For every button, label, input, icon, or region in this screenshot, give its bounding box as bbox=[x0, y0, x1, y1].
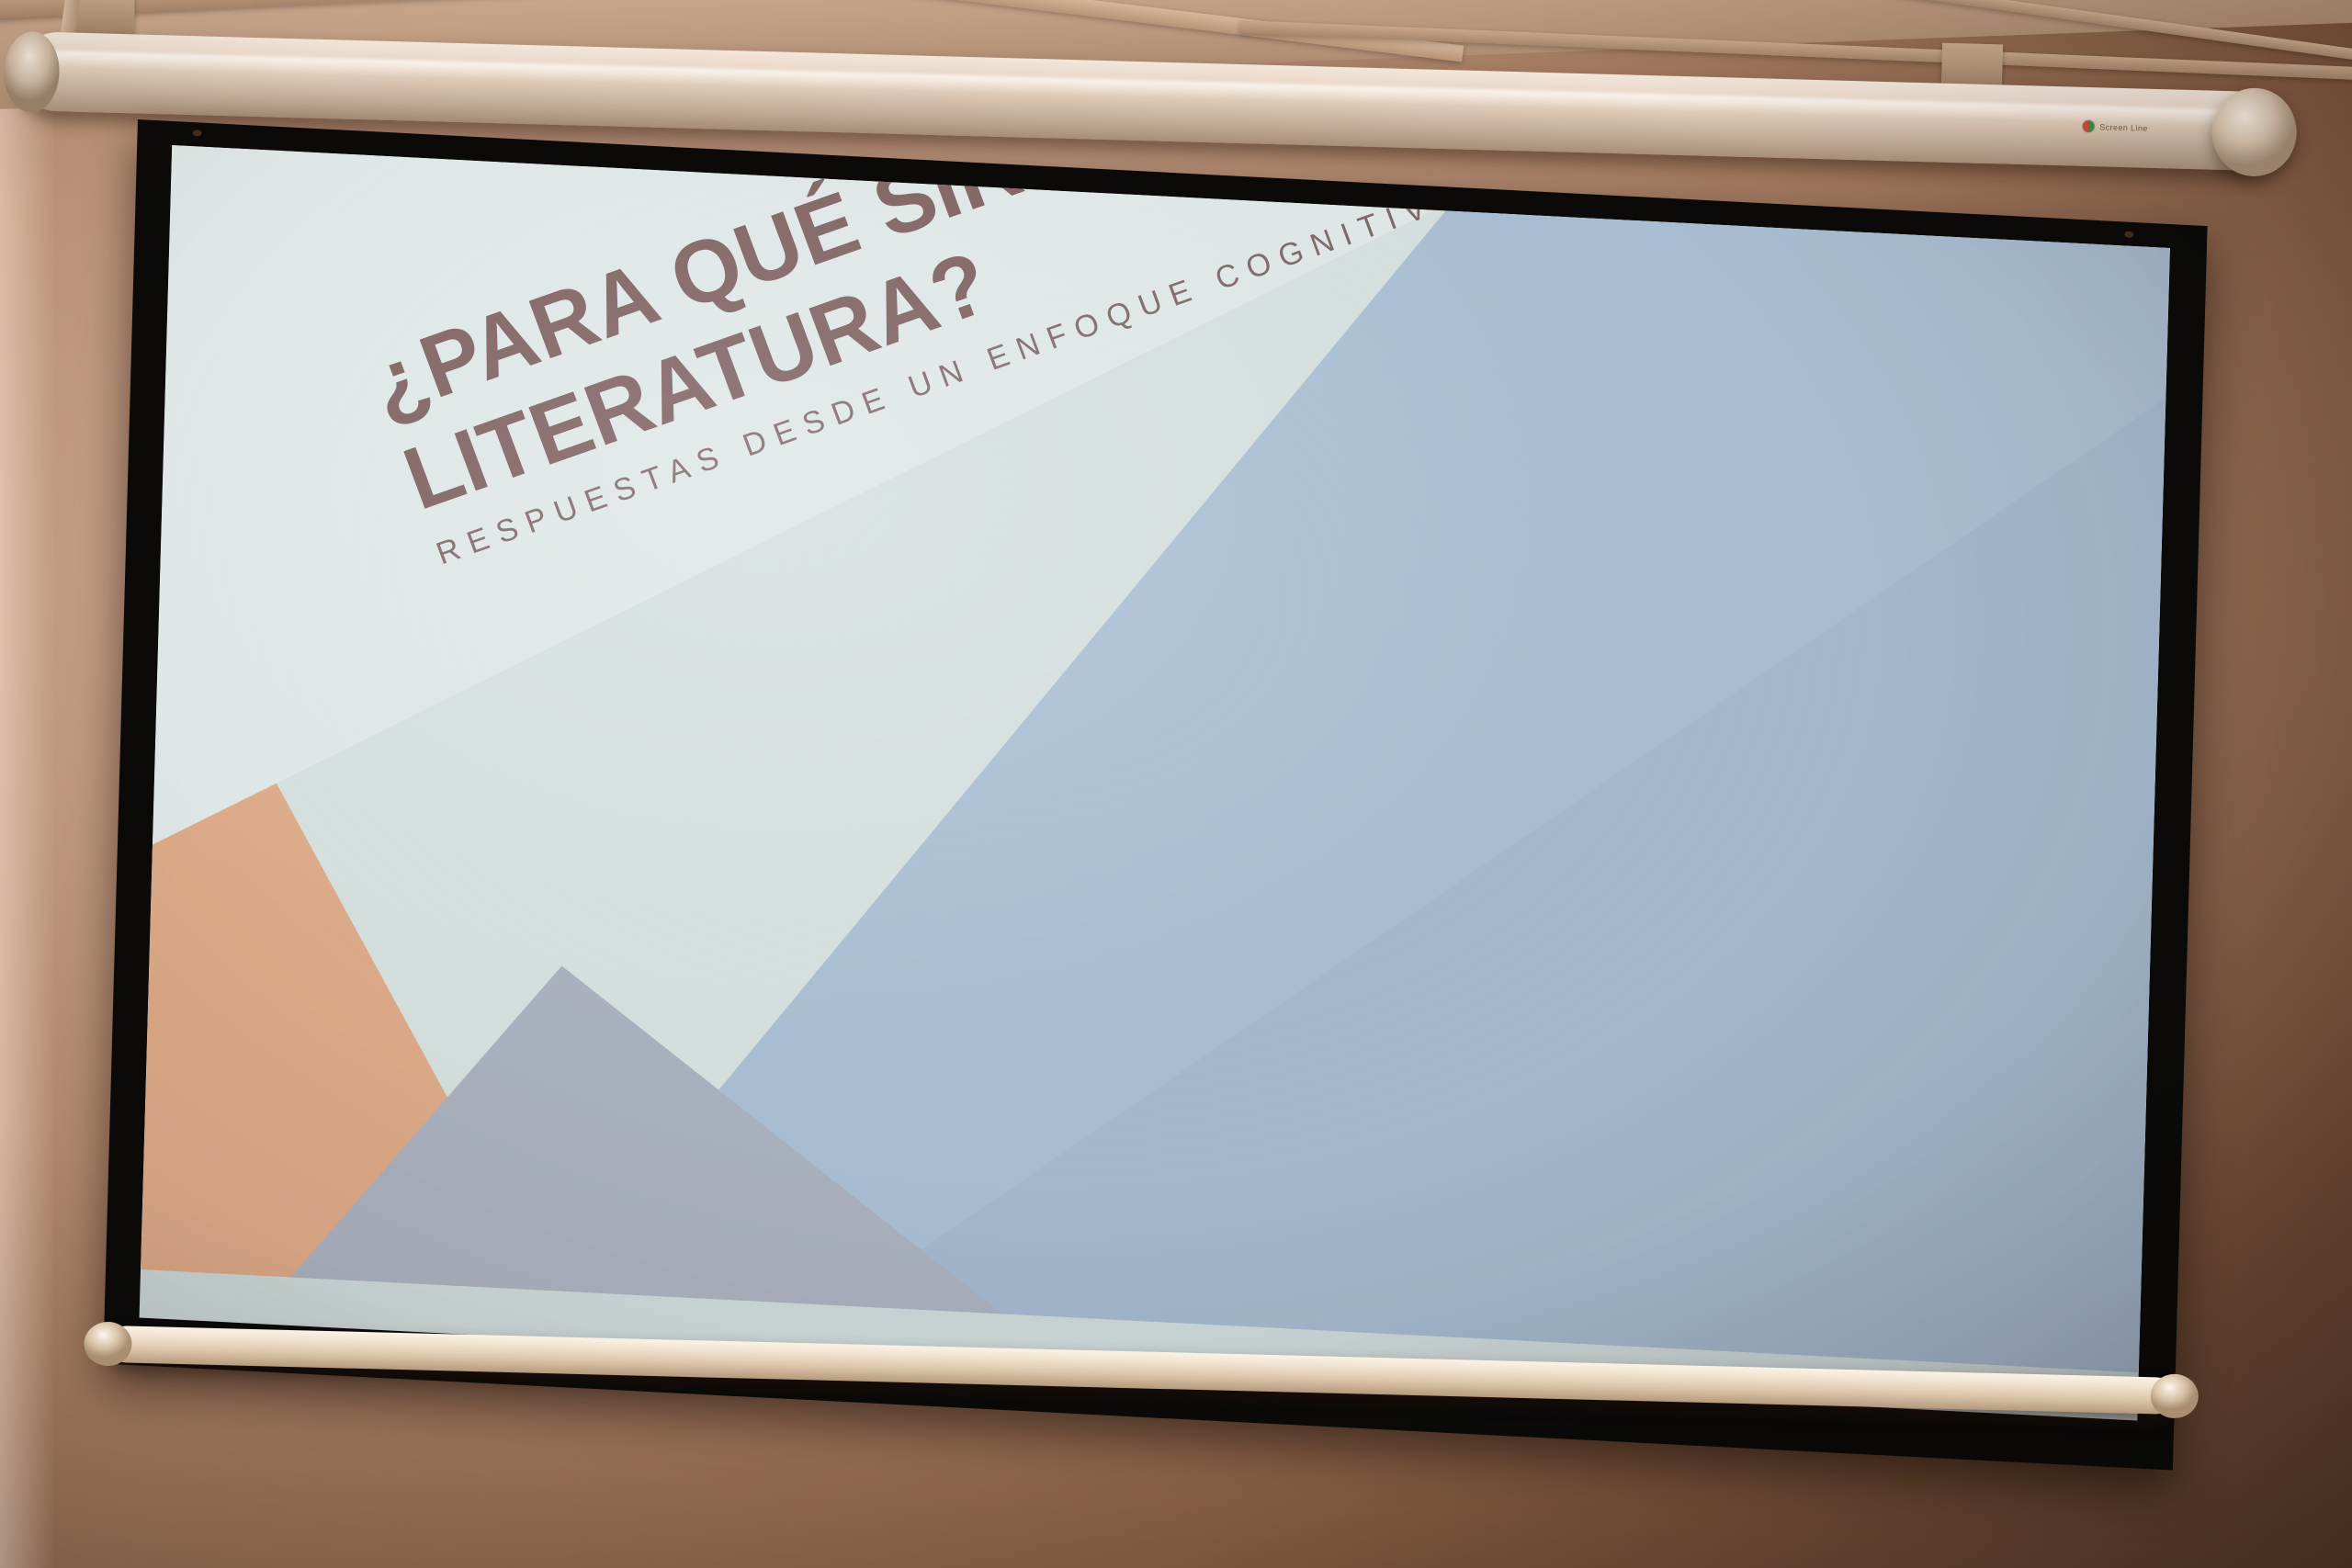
projected-slide[interactable]: ¿PARA QUÉ SIRVE LEER LITERATURA? RESPUES… bbox=[140, 145, 2170, 1421]
weight-bar-cap-left bbox=[84, 1321, 132, 1366]
frame-screw-left bbox=[193, 130, 202, 137]
brand-dot-icon bbox=[2082, 120, 2094, 132]
frame-screw-right bbox=[2124, 231, 2133, 238]
photo-scene: Screen Line bbox=[0, 0, 2352, 1568]
brand-logo: Screen Line bbox=[2082, 120, 2148, 134]
wall-left-edge bbox=[0, 0, 55, 1568]
projection-screen-frame[interactable]: ¿PARA QUÉ SIRVE LEER LITERATURA? RESPUES… bbox=[103, 119, 2207, 1471]
brand-label: Screen Line bbox=[2099, 122, 2148, 132]
